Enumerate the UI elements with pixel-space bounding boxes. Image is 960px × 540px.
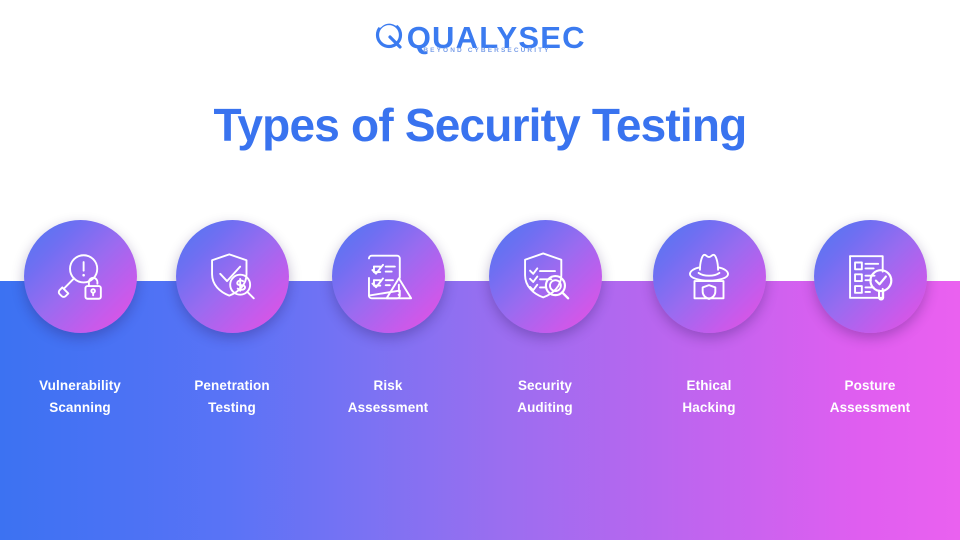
icon-circle [24, 220, 137, 333]
icon-circle [489, 220, 602, 333]
shield-check-magnifier-icon [203, 248, 261, 306]
checklist-magnifier-check-icon [841, 248, 899, 306]
infographic-canvas: QUALYSEC BEYOND CYBERSECURITY Types of S… [0, 0, 960, 540]
list-item-label: Vulnerability Scanning [0, 375, 160, 419]
list-item[interactable]: Penetration Testing [152, 220, 312, 419]
icon-circle [176, 220, 289, 333]
list-item[interactable]: Risk Assessment [308, 220, 468, 419]
list-item[interactable]: Ethical Hacking [629, 220, 789, 419]
shield-checklist-magnifier-icon [516, 248, 574, 306]
list-item[interactable]: Security Auditing [465, 220, 625, 419]
list-item-label: Penetration Testing [152, 375, 312, 419]
list-item-label: Ethical Hacking [629, 375, 789, 419]
hacker-hat-laptop-shield-icon [680, 248, 738, 306]
list-item[interactable]: Posture Assessment [790, 220, 950, 419]
icon-circle [653, 220, 766, 333]
security-testing-types-list: Vulnerability Scanning Penetration Testi… [0, 0, 960, 540]
icon-circle [814, 220, 927, 333]
list-item-label: Risk Assessment [308, 375, 468, 419]
list-item[interactable]: Vulnerability Scanning [0, 220, 160, 419]
checklist-warning-triangle-icon [359, 248, 417, 306]
magnifier-alert-unlocked-padlock-icon [51, 248, 109, 306]
list-item-label: Posture Assessment [790, 375, 950, 419]
list-item-label: Security Auditing [465, 375, 625, 419]
icon-circle [332, 220, 445, 333]
